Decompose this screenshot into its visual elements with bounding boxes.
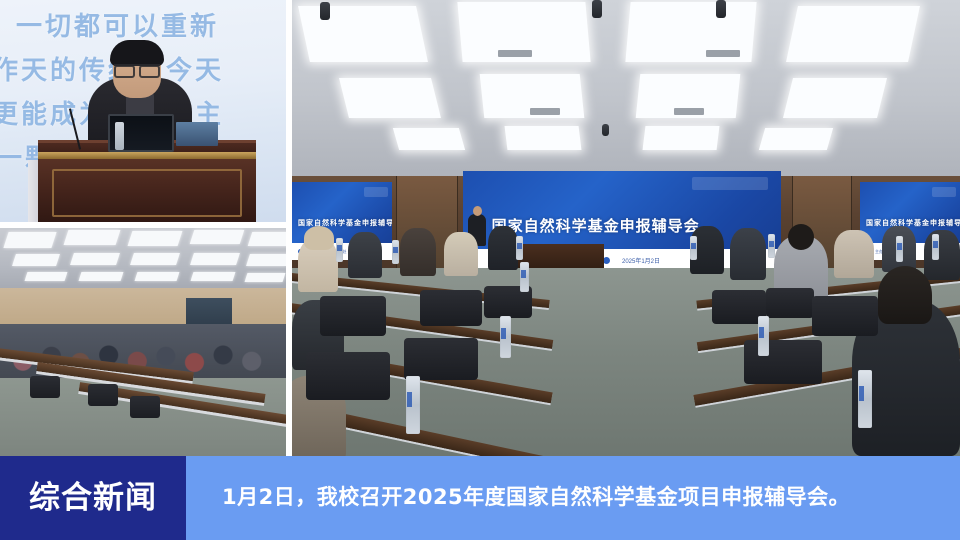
chair bbox=[30, 376, 60, 398]
water-bottle bbox=[392, 240, 399, 264]
main-screen-title: 国家自然科学基金申报辅导会 bbox=[492, 215, 700, 236]
news-caption-banner: 综合新闻 1月2日，我校召开2025年度国家自然科学基金项目申报辅导会。 bbox=[0, 456, 960, 540]
ceiling-light-panel bbox=[393, 128, 465, 150]
attendee-hat bbox=[304, 226, 334, 250]
university-logo-icon bbox=[932, 187, 956, 197]
ceiling-light-panel bbox=[786, 6, 920, 62]
ceiling-spotlight bbox=[716, 0, 726, 18]
ceiling-light-panel bbox=[248, 232, 286, 246]
ceiling-light-panel bbox=[339, 78, 441, 118]
ceiling-vent bbox=[706, 50, 740, 57]
university-logo-icon bbox=[692, 177, 768, 190]
ceiling-light-panel bbox=[64, 230, 121, 245]
ceiling-light-panel bbox=[245, 273, 286, 282]
seat bbox=[420, 290, 482, 326]
chair bbox=[88, 384, 118, 406]
attendee bbox=[834, 230, 874, 278]
ceiling-vent bbox=[530, 108, 560, 115]
water-bottle bbox=[115, 122, 124, 150]
ceiling-light-panel bbox=[505, 126, 582, 150]
news-photo-card: 一切都可以重新 作天的传统，今天 更能成为人生的主 一颗 bbox=[0, 0, 960, 540]
photo-speaker-at-podium: 一切都可以重新 作天的传统，今天 更能成为人生的主 一颗 bbox=[0, 0, 286, 222]
attendee bbox=[924, 230, 960, 280]
side-screen-right-title: 国家自然科学基金申报辅导会 bbox=[866, 218, 960, 228]
attendee bbox=[400, 228, 436, 276]
water-bottle bbox=[500, 316, 511, 358]
ceiling-light-panel bbox=[135, 272, 180, 281]
ceiling-light-panel bbox=[298, 6, 428, 62]
attendee-head bbox=[878, 266, 932, 324]
ceiling-light-panel bbox=[783, 78, 887, 118]
ceiling-spotlight bbox=[592, 0, 602, 18]
water-bottle bbox=[406, 376, 420, 434]
stage-speaker-head bbox=[473, 206, 482, 216]
water-bottle bbox=[768, 234, 775, 258]
chair bbox=[130, 396, 160, 418]
water-bottle bbox=[896, 236, 903, 262]
ceiling-light-panel bbox=[643, 126, 720, 150]
water-bottle bbox=[758, 316, 769, 356]
ceiling-light-panel bbox=[130, 253, 180, 265]
seat bbox=[306, 352, 390, 400]
ceiling-light-panel bbox=[759, 128, 833, 150]
water-bottle bbox=[336, 238, 343, 262]
caption-area: 1月2日，我校召开2025年度国家自然科学基金项目申报辅导会。 bbox=[186, 456, 960, 540]
water-bottle bbox=[520, 262, 529, 292]
photo-auditorium-wide: 国家自然科学基金申报辅导会 主办单位 · 科学技术处 国家自然科学基金申报辅导会… bbox=[292, 0, 960, 456]
attendee bbox=[730, 228, 766, 280]
ceiling-spotlight bbox=[602, 124, 609, 136]
ceiling-light-panel bbox=[12, 254, 60, 266]
water-bottle bbox=[932, 234, 939, 260]
ceiling-vent bbox=[498, 50, 532, 57]
ceiling-vent bbox=[674, 108, 704, 115]
ceiling-light-panel bbox=[191, 272, 236, 281]
seat bbox=[766, 288, 814, 318]
ceiling-light-panel bbox=[190, 230, 245, 244]
photo-collage: 一切都可以重新 作天的传统，今天 更能成为人生的主 一颗 bbox=[0, 0, 960, 456]
water-bottle bbox=[858, 370, 872, 428]
category-tag-label: 综合新闻 bbox=[29, 483, 157, 514]
seat bbox=[744, 340, 822, 384]
speaker-hair bbox=[110, 40, 164, 66]
ceiling-light-panel bbox=[70, 253, 120, 265]
photo-audience-seated bbox=[0, 228, 286, 456]
ceiling-light-panel bbox=[79, 272, 124, 281]
speaker-glasses bbox=[114, 64, 160, 75]
water-bottle bbox=[516, 236, 523, 260]
ceiling-light-panel bbox=[3, 232, 56, 248]
attendee bbox=[444, 232, 478, 276]
ceiling bbox=[0, 228, 286, 294]
name-plate bbox=[176, 122, 218, 146]
ceiling-light-panel bbox=[128, 231, 183, 246]
projected-text-line-1: 一切都可以重新 bbox=[16, 6, 219, 43]
attendee-head bbox=[788, 224, 814, 250]
seat bbox=[812, 296, 878, 336]
water-bottle bbox=[690, 236, 697, 260]
seat bbox=[320, 296, 386, 336]
attendee bbox=[348, 232, 382, 278]
center-aisle bbox=[544, 268, 636, 456]
seat bbox=[404, 338, 478, 380]
ceiling-light-panel bbox=[25, 272, 68, 281]
attendee bbox=[488, 226, 518, 270]
auditorium-ceiling bbox=[292, 0, 960, 182]
ceiling-light-panel bbox=[190, 253, 240, 265]
university-logo-icon bbox=[364, 187, 388, 197]
ceiling-light-panel bbox=[246, 254, 286, 266]
ceiling-spotlight bbox=[320, 2, 330, 20]
main-screen-footer-date: 2025年1月2日 bbox=[622, 256, 660, 265]
podium-trim bbox=[38, 152, 256, 159]
category-tag[interactable]: 综合新闻 bbox=[0, 456, 186, 540]
news-caption-text: 1月2日，我校召开2025年度国家自然科学基金项目申报辅导会。 bbox=[222, 485, 850, 510]
